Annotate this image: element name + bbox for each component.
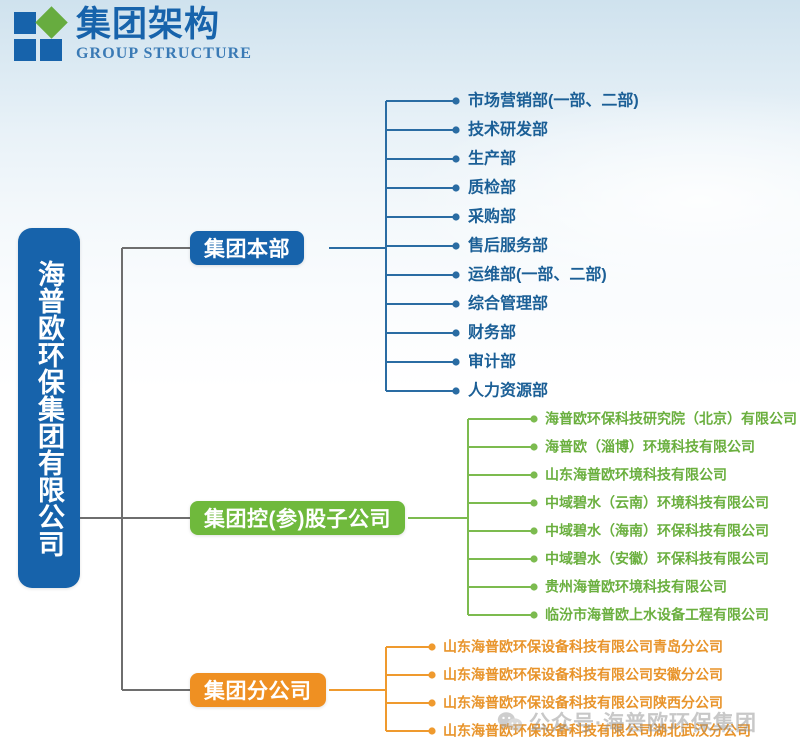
root-company-node[interactable]: 海普欧环保集团有限公司 bbox=[18, 228, 80, 588]
branch-item[interactable]: 山东海普欧环保设备科技有限公司青岛分公司 bbox=[443, 639, 723, 656]
branch-dot bbox=[428, 643, 435, 650]
dept-dot bbox=[452, 126, 459, 133]
department-item[interactable]: 市场营销部(一部、二部) bbox=[468, 93, 639, 110]
dept-dot bbox=[452, 300, 459, 307]
four-square-diamond-logo-icon bbox=[14, 9, 70, 61]
category-button-branches[interactable]: 集团分公司 bbox=[190, 673, 326, 707]
dept-dot bbox=[452, 271, 459, 278]
subsidiary-item[interactable]: 中域碧水（云南）环境科技有限公司 bbox=[545, 495, 769, 512]
dept-dot bbox=[452, 184, 459, 191]
department-item[interactable]: 综合管理部 bbox=[468, 296, 548, 313]
sub-dot bbox=[530, 499, 537, 506]
brand-logo: 集团架构 GROUP STRUCTURE bbox=[14, 6, 252, 63]
dept-dot bbox=[452, 242, 459, 249]
logo-square-top-left bbox=[14, 12, 36, 34]
dept-dot bbox=[452, 387, 459, 394]
logo-square-bottom-left bbox=[14, 39, 36, 61]
department-item[interactable]: 运维部(一部、二部) bbox=[468, 267, 607, 284]
department-item[interactable]: 审计部 bbox=[468, 354, 516, 371]
subsidiary-item[interactable]: 海普欧环保科技研究院（北京）有限公司 bbox=[545, 411, 797, 428]
logo-title-cn: 集团架构 bbox=[76, 6, 252, 44]
department-item[interactable]: 技术研发部 bbox=[468, 122, 548, 139]
subsidiary-item[interactable]: 中域碧水（海南）环保科技有限公司 bbox=[545, 523, 769, 540]
branch-item[interactable]: 山东海普欧环保设备科技有限公司陕西分公司 bbox=[443, 695, 723, 712]
logo-square-bottom-right bbox=[40, 39, 62, 61]
branch-item[interactable]: 山东海普欧环保设备科技有限公司安徽分公司 bbox=[443, 667, 723, 684]
sub-dot bbox=[530, 443, 537, 450]
sub-dot bbox=[530, 583, 537, 590]
subsidiary-item[interactable]: 海普欧（淄博）环境科技有限公司 bbox=[545, 439, 755, 456]
department-item[interactable]: 人力资源部 bbox=[468, 383, 548, 400]
org-chart-canvas: 集团架构 GROUP STRUCTURE 海普欧环保集团有限公司 集团本部 集团… bbox=[0, 0, 800, 750]
subsidiary-item[interactable]: 中域碧水（安徽）环保科技有限公司 bbox=[545, 551, 769, 568]
department-item[interactable]: 质检部 bbox=[468, 180, 516, 197]
logo-title-en: GROUP STRUCTURE bbox=[76, 45, 252, 63]
dept-dot bbox=[452, 329, 459, 336]
logo-text-group: 集团架构 GROUP STRUCTURE bbox=[76, 6, 252, 63]
branch-dot bbox=[428, 671, 435, 678]
department-item[interactable]: 生产部 bbox=[468, 151, 516, 168]
connector-lines bbox=[0, 0, 800, 750]
sub-dot bbox=[530, 471, 537, 478]
department-item[interactable]: 财务部 bbox=[468, 325, 516, 342]
sub-dot bbox=[530, 527, 537, 534]
category-button-headquarters[interactable]: 集团本部 bbox=[190, 231, 304, 265]
sub-dot bbox=[530, 611, 537, 618]
sub-dot bbox=[530, 415, 537, 422]
dept-dot bbox=[452, 97, 459, 104]
branch-dot bbox=[428, 699, 435, 706]
dept-dot bbox=[452, 155, 459, 162]
logo-diamond bbox=[35, 6, 68, 39]
subsidiary-item[interactable]: 临汾市海普欧上水设备工程有限公司 bbox=[545, 607, 769, 624]
sub-dot bbox=[530, 555, 537, 562]
department-item[interactable]: 采购部 bbox=[468, 209, 516, 226]
category-button-subsidiaries[interactable]: 集团控(参)股子公司 bbox=[190, 501, 405, 535]
branch-item[interactable]: 山东海普欧环保设备科技有限公司湖北武汉分公司 bbox=[443, 723, 751, 740]
branch-dot bbox=[428, 727, 435, 734]
dept-dot bbox=[452, 213, 459, 220]
subsidiary-item[interactable]: 山东海普欧环境科技有限公司 bbox=[545, 467, 727, 484]
subsidiary-item[interactable]: 贵州海普欧环境科技有限公司 bbox=[545, 579, 727, 596]
dept-dot bbox=[452, 358, 459, 365]
department-item[interactable]: 售后服务部 bbox=[468, 238, 548, 255]
